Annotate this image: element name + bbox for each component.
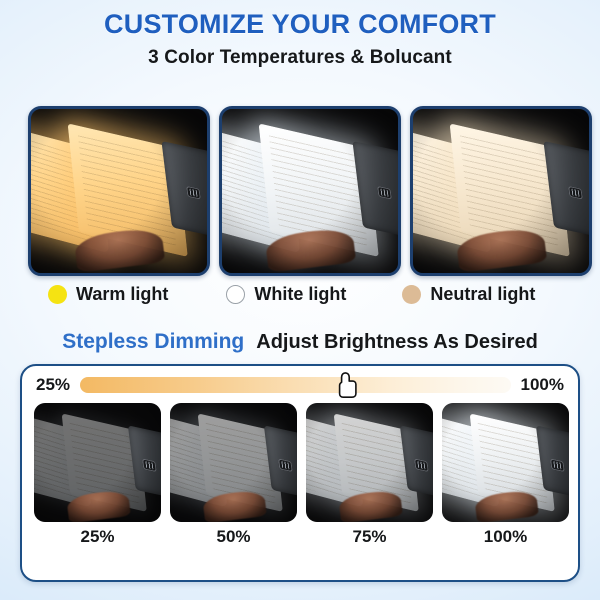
warm-light-scene [31,109,207,273]
hand-holding-lamp [265,226,356,273]
book-left-page [34,414,92,509]
brightness-slider-row: 25% 100% [22,366,578,395]
power-button-icon [377,186,392,200]
power-button-icon [414,458,429,472]
hand-holding-lamp [74,226,165,273]
brightness-75-scene [306,403,433,522]
color-temperature-photo-row [28,106,592,276]
book-right-page [67,123,187,257]
brightness-label-50: 50% [170,527,297,547]
page-subtitle: 3 Color Temperatures & Bolucant [0,47,600,69]
book-lamp-illustration [34,403,161,522]
brightness-level-50: 50% [170,403,297,547]
brightness-100-scene [442,403,569,522]
power-button-icon [186,186,201,200]
book-right-page [198,413,284,511]
book-lamp-illustration [306,403,433,522]
brightness-level-row: 25% 50% [22,395,578,547]
legend-item-warm-light: Warm light [48,284,168,305]
slider-max-label: 100% [521,375,564,395]
book-left-page [413,125,491,254]
white-light-scene [222,109,398,273]
book-right-page [258,123,378,257]
brightness-slider-track[interactable] [80,377,510,393]
warm-light-swatch [48,285,67,304]
book-spine [536,426,569,498]
hand-holding-lamp [203,489,268,522]
book-right-page [449,123,569,257]
white-light-photo [219,106,401,276]
brightness-75-photo [306,403,433,522]
book-left-page [170,414,228,509]
color-temperature-legend: Warm light White light Neutral light [0,284,600,305]
power-button-icon [568,186,583,200]
warm-light-photo [28,106,210,276]
power-button-icon [142,458,157,472]
legend-label-neutral-light: Neutral light [430,284,535,305]
neutral-light-swatch [402,285,421,304]
neutral-light-scene [413,109,589,273]
book-right-page [470,413,556,511]
book-left-page [306,414,364,509]
page-title: CUSTOMIZE YOUR COMFORT [0,10,600,40]
book-right-page [62,413,148,511]
book-spine [543,141,589,239]
book-spine [352,141,398,239]
dimming-heading-primary: Stepless Dimming [62,330,244,354]
dimming-card: 25% 100% [20,364,580,582]
book-spine [264,426,297,498]
book-lamp-illustration [170,403,297,522]
brightness-level-75: 75% [306,403,433,547]
infographic-page: CUSTOMIZE YOUR COMFORT 3 Color Temperatu… [0,0,600,600]
brightness-25-scene [34,403,161,522]
hand-holding-lamp [475,489,540,522]
header: CUSTOMIZE YOUR COMFORT 3 Color Temperatu… [0,0,600,69]
white-light-swatch [226,285,245,304]
book-right-page [334,413,420,511]
book-lamp-illustration [413,109,589,273]
book-spine [400,426,433,498]
book-left-page [442,414,500,509]
book-lamp-illustration [31,109,207,273]
neutral-light-photo [410,106,592,276]
brightness-100-photo [442,403,569,522]
book-left-page [222,125,300,254]
hand-holding-lamp [67,489,132,522]
book-lamp-illustration [442,403,569,522]
brightness-label-25: 25% [34,527,161,547]
dimming-heading: Stepless Dimming Adjust Brightness As De… [0,330,600,354]
legend-label-warm-light: Warm light [76,284,168,305]
brightness-label-100: 100% [442,527,569,547]
power-button-icon [278,458,293,472]
hand-holding-lamp [339,489,404,522]
power-button-icon [550,458,565,472]
book-spine [128,426,161,498]
brightness-level-25: 25% [34,403,161,547]
slider-min-label: 25% [36,375,70,395]
hand-holding-lamp [456,226,547,273]
hand-thumb-icon[interactable] [336,372,358,398]
brightness-50-scene [170,403,297,522]
brightness-label-75: 75% [306,527,433,547]
brightness-50-photo [170,403,297,522]
book-spine [161,141,207,239]
book-lamp-illustration [222,109,398,273]
legend-item-white-light: White light [226,284,346,305]
book-left-page [31,125,109,254]
dimming-heading-secondary: Adjust Brightness As Desired [256,331,538,354]
legend-item-neutral-light: Neutral light [402,284,535,305]
brightness-25-photo [34,403,161,522]
legend-label-white-light: White light [254,284,346,305]
brightness-level-100: 100% [442,403,569,547]
